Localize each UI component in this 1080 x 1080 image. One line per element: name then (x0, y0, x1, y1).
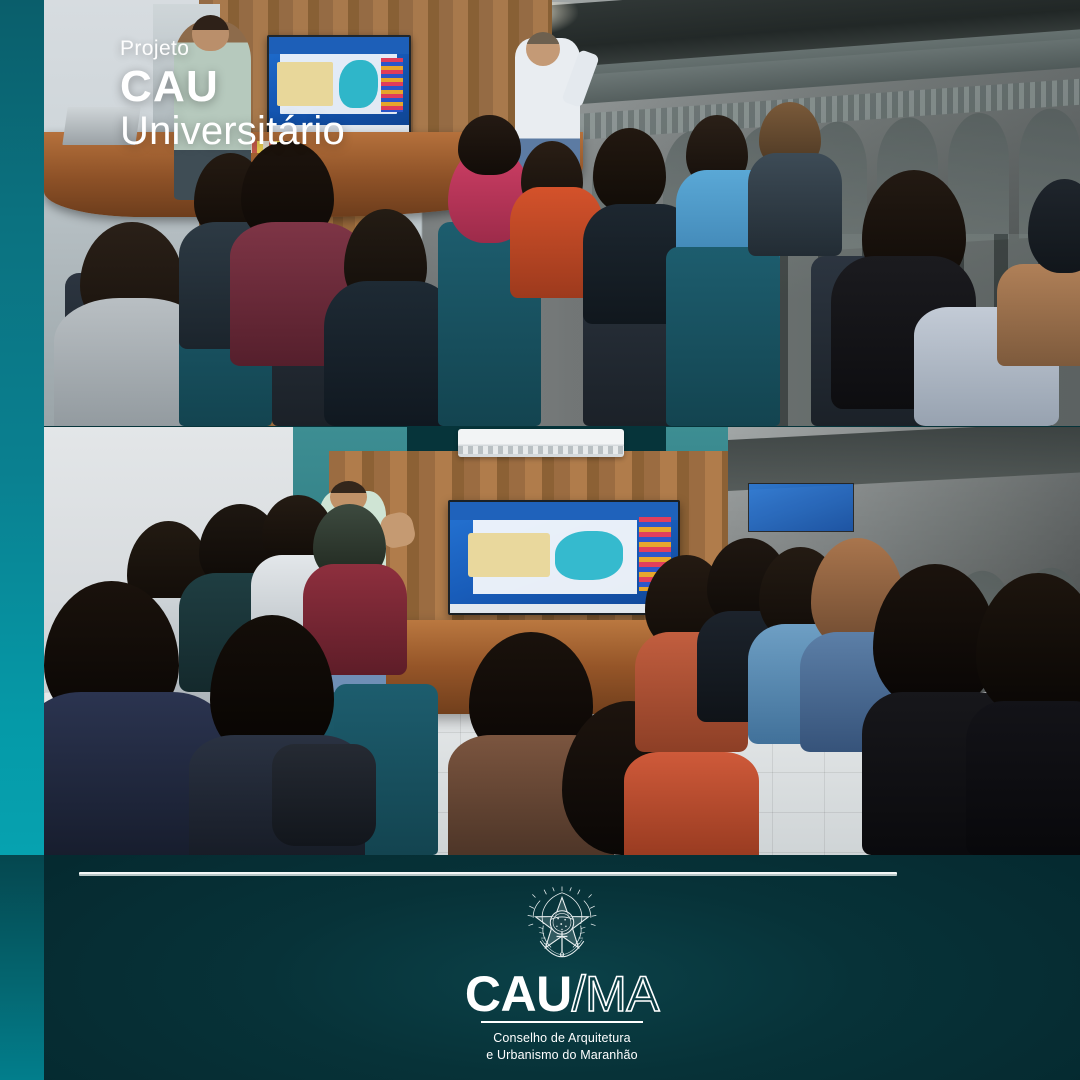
brazil-coat-of-arms-icon (523, 885, 601, 963)
footer-tagline: Conselho de Arquitetura e Urbanismo do M… (486, 1030, 637, 1063)
left-accent-strip-footer (0, 855, 44, 1080)
laptop (62, 107, 140, 145)
wordmark-cau: CAU (465, 969, 572, 1019)
brand-lockup: CAU /MA Conselho de Arquitetura e Urbani… (44, 885, 1080, 1063)
photo-bottom-scene (44, 427, 1080, 855)
audience-cap (624, 752, 759, 855)
presenter-left-head (192, 15, 229, 51)
audience-head (593, 128, 666, 213)
footer: CAU /MA Conselho de Arquitetura e Urbani… (44, 855, 1080, 1080)
secondary-screen (748, 483, 854, 532)
photo-top: Projeto CAU Universitário (44, 0, 1080, 426)
photo-bottom (44, 427, 1080, 855)
left-accent-strip (0, 0, 44, 855)
wordmark-slashma: /MA (572, 969, 659, 1019)
wordmark-underline (481, 1021, 643, 1023)
audience-body (966, 701, 1080, 855)
footer-divider (79, 872, 897, 876)
audience-body (748, 153, 841, 255)
presenter-right-head (526, 32, 560, 66)
photo-top-scene (44, 0, 1080, 426)
poster-canvas: Projeto CAU Universitário (0, 0, 1080, 1080)
presentation-screen-top (267, 35, 411, 135)
air-conditioner-vent (458, 446, 624, 455)
tagline-line-2: e Urbanismo do Maranhão (486, 1047, 637, 1064)
audience-arm (997, 264, 1080, 366)
tagline-line-1: Conselho de Arquitetura (486, 1030, 637, 1047)
backpack (272, 744, 376, 847)
audience-head (458, 115, 520, 175)
chair (666, 247, 780, 426)
cau-ma-wordmark: CAU /MA (465, 969, 659, 1019)
